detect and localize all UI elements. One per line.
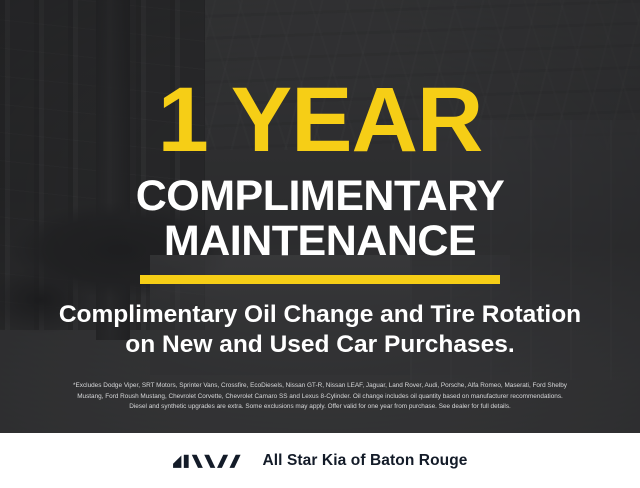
- offer-text-line-2: on New and Used Car Purchases.: [125, 330, 514, 360]
- dealer-name: All Star Kia of Baton Rouge: [262, 452, 467, 470]
- headline-complimentary: COMPLIMENTARY: [136, 175, 505, 218]
- yellow-divider-bar: [140, 275, 500, 284]
- legal-line-1: *Excludes Dodge Viper, SRT Motors, Sprin…: [10, 381, 630, 391]
- headline-maintenance: MAINTENANCE: [164, 220, 476, 263]
- kia-logo-icon: [172, 452, 242, 470]
- promotional-banner: 1 YEAR COMPLIMENTARY MAINTENANCE Complim…: [0, 0, 640, 488]
- hero-content: 1 YEAR COMPLIMENTARY MAINTENANCE Complim…: [0, 0, 640, 433]
- legal-disclaimer: *Excludes Dodge Viper, SRT Motors, Sprin…: [10, 381, 630, 412]
- headline-year: 1 YEAR: [158, 78, 483, 163]
- hero-section: 1 YEAR COMPLIMENTARY MAINTENANCE Complim…: [0, 0, 640, 433]
- legal-line-2: Mustang, Ford Roush Mustang, Chevrolet C…: [10, 392, 630, 402]
- offer-text-line-1: Complimentary Oil Change and Tire Rotati…: [59, 300, 581, 330]
- legal-line-3: Diesel and synthetic upgrades are extra.…: [10, 402, 630, 412]
- footer-bar: All Star Kia of Baton Rouge: [0, 433, 640, 488]
